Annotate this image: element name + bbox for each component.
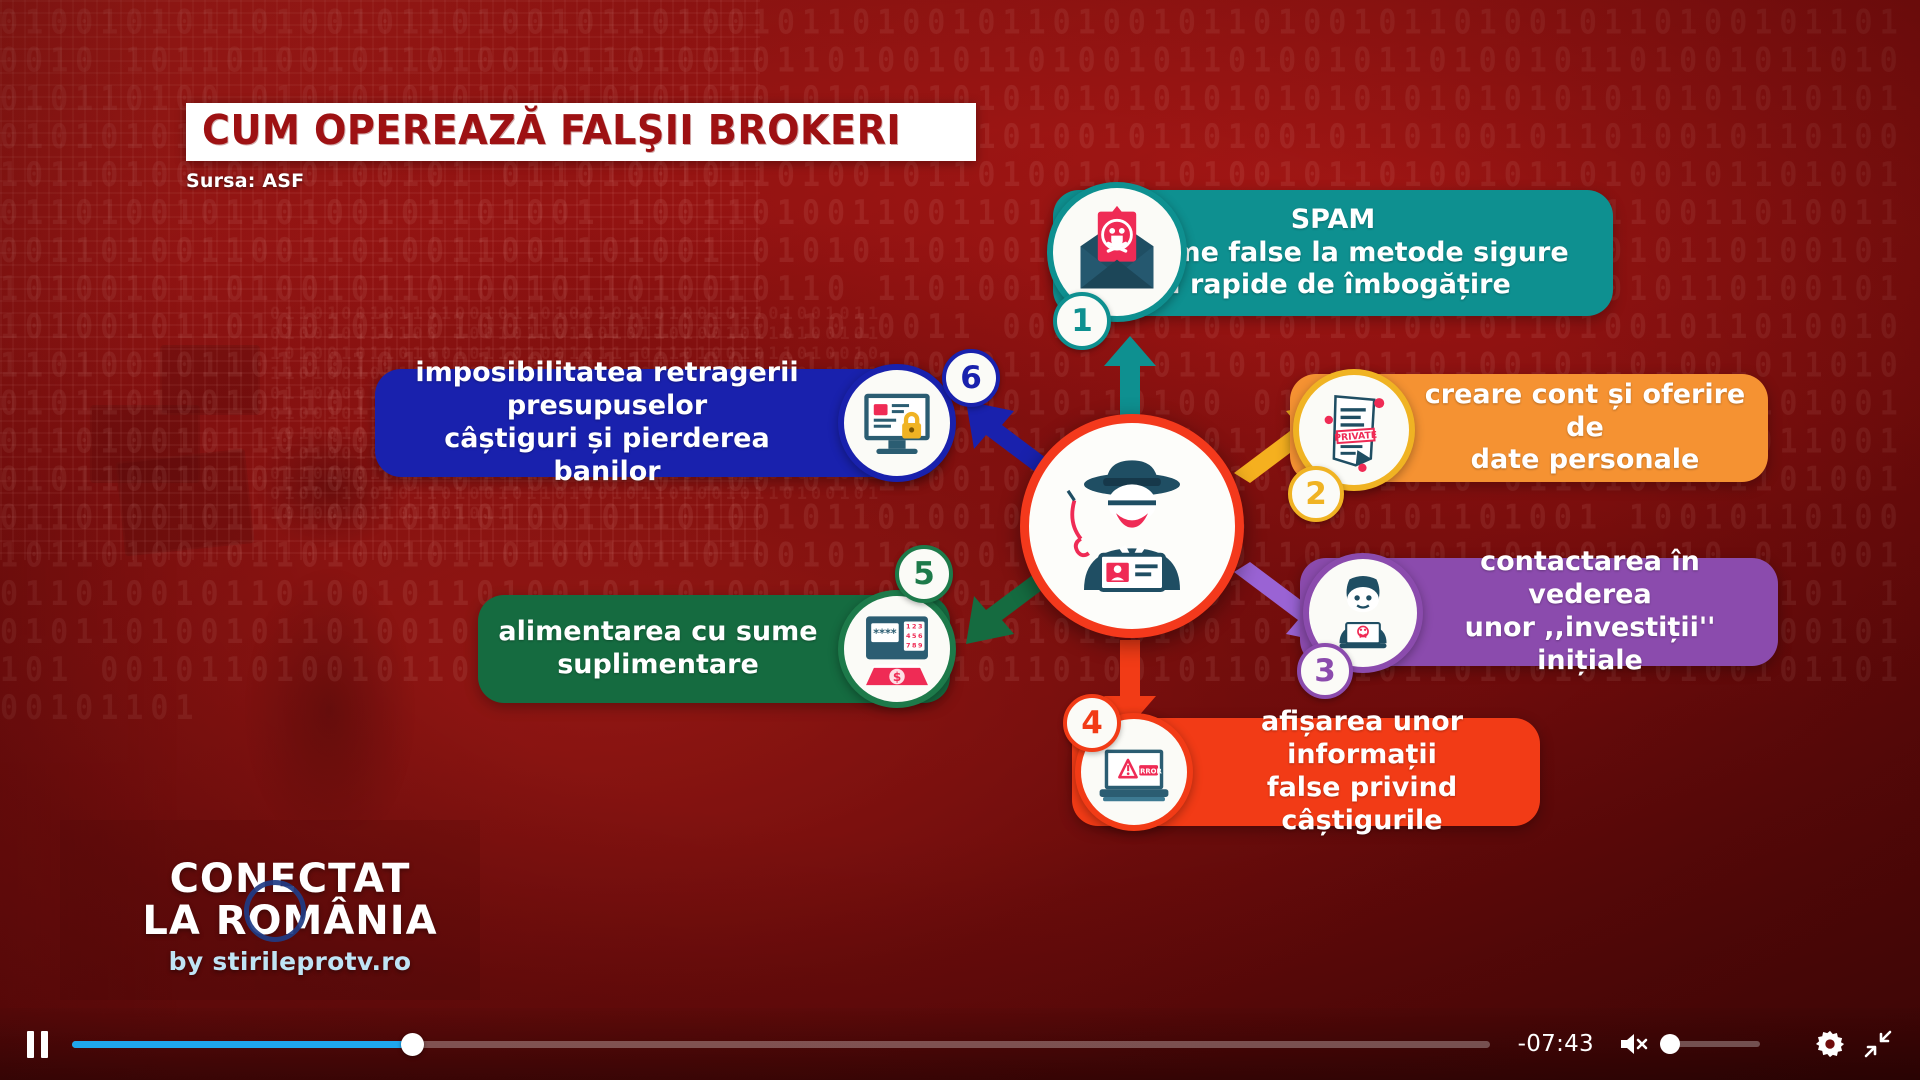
step-2-number: 2 (1305, 476, 1327, 512)
pause-button[interactable] (22, 1029, 52, 1059)
fullscreen-button[interactable] (1858, 1024, 1898, 1064)
step-5-number-badge: 5 (895, 545, 953, 603)
step-4-number-badge: 4 (1063, 694, 1121, 752)
svg-text:6: 6 (918, 632, 923, 640)
atm-keypad-cash-icon: **** 123 456 789 $ (854, 606, 940, 692)
logo-line-3: by stirileprotv.ro (140, 947, 440, 976)
step-2-number-badge: 2 (1288, 466, 1344, 522)
seek-handle[interactable] (401, 1033, 424, 1056)
settings-button[interactable] (1810, 1024, 1850, 1064)
step-3-text: contactarea în vederea unor ,,investiții… (1420, 546, 1760, 678)
svg-text:3: 3 (918, 622, 922, 630)
video-controls-bar: -07:43 (0, 1008, 1920, 1080)
source-label: Sursa: ASF (186, 170, 304, 192)
svg-text:8: 8 (912, 641, 917, 649)
private-document-icon: PRIVATE (1312, 388, 1396, 472)
seek-progress-fill (72, 1041, 412, 1048)
step-3-number: 3 (1314, 653, 1336, 689)
step-6-number: 6 (960, 360, 982, 396)
svg-text:****: **** (873, 627, 897, 640)
svg-text:9: 9 (918, 641, 923, 649)
svg-text:1: 1 (906, 622, 911, 630)
svg-text:7: 7 (906, 641, 910, 649)
step-1-number: 1 (1071, 303, 1093, 339)
svg-text:$: $ (893, 670, 901, 684)
svg-text:ERROR: ERROR (1135, 767, 1162, 775)
step-4-text: afișarea unor informații false privind c… (1202, 706, 1522, 838)
step-4-number: 4 (1081, 705, 1103, 741)
gear-icon (1815, 1029, 1845, 1059)
svg-text:5: 5 (912, 632, 917, 640)
svg-text:4: 4 (906, 632, 911, 640)
arrow-to-step-1 (1100, 336, 1160, 422)
step-6-icon-medallion (838, 364, 956, 482)
channel-watermark: CONECTAT LA ROMÂNIA by stirileprotv.ro (140, 858, 440, 976)
volume-muted-icon (1619, 1031, 1649, 1057)
spam-envelope-skull-icon (1069, 204, 1165, 300)
exit-fullscreen-icon (1864, 1030, 1892, 1058)
step-5-text: alimentarea cu sume suplimentare (498, 616, 817, 682)
hacker-icon (1052, 446, 1212, 606)
step-2-text: creare cont și oferire de date personale (1420, 379, 1750, 478)
step-1-number-badge: 1 (1053, 292, 1111, 350)
page-title-banner: CUM OPEREAZĂ FALŞII BROKERI (186, 103, 976, 161)
video-player-stage: 0100101011010010110100101101001011010010… (0, 0, 1920, 1080)
hacker-laptop-icon (1321, 571, 1405, 655)
mute-button[interactable] (1614, 1024, 1654, 1064)
logo-ring-icon (244, 880, 306, 942)
center-hub (1020, 414, 1244, 638)
svg-text:2: 2 (912, 622, 916, 630)
step-6-text: imposibilitatea retragerii presupuselor … (393, 357, 821, 489)
step-5-number: 5 (913, 556, 935, 592)
step-6-number-badge: 6 (942, 349, 1000, 407)
time-remaining-label: -07:43 (1518, 1031, 1594, 1057)
volume-slider[interactable] (1660, 1031, 1760, 1057)
step-3-number-badge: 3 (1297, 643, 1353, 699)
locked-monitor-icon (854, 380, 940, 466)
seek-bar[interactable] (72, 1030, 1490, 1058)
step-5-icon-medallion: **** 123 456 789 $ (838, 590, 956, 708)
page-title: CUM OPEREAZĂ FALŞII BROKERI (202, 110, 901, 151)
volume-handle[interactable] (1660, 1034, 1680, 1054)
